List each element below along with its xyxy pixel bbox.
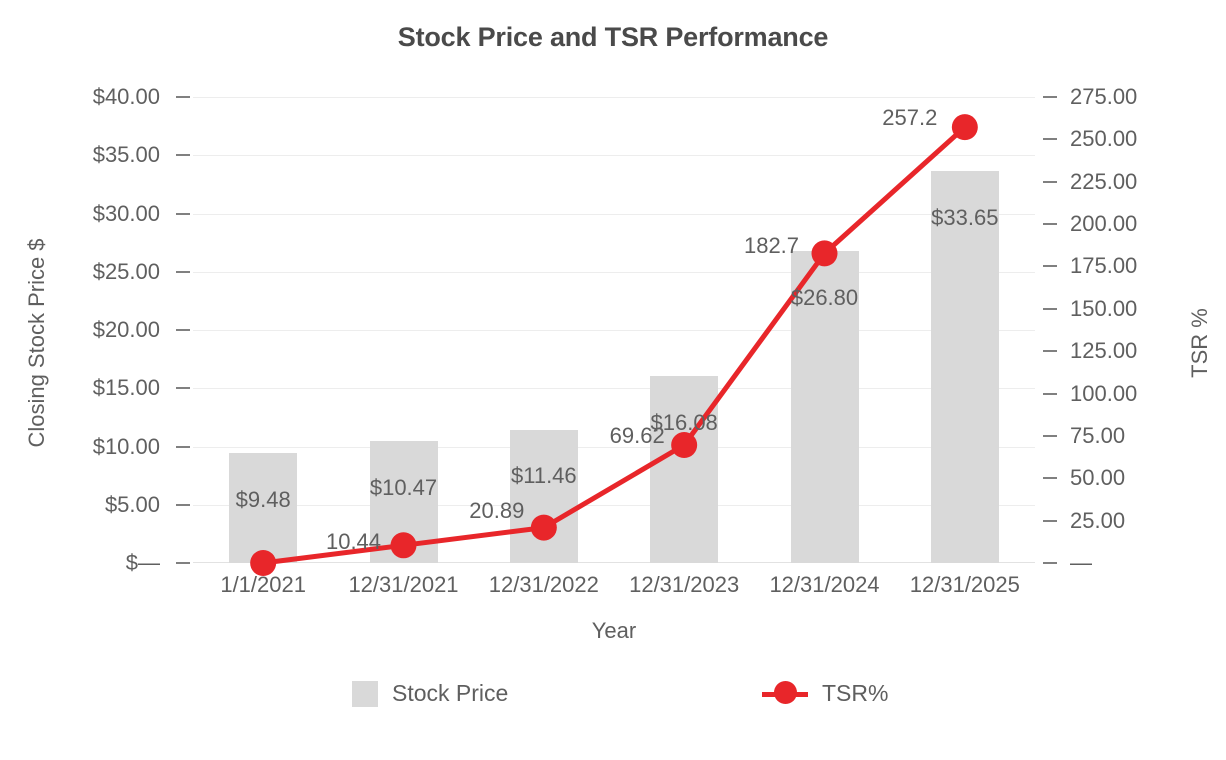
y-axis-left-tick-mark	[176, 562, 190, 564]
y-axis-left-tick-mark	[176, 504, 190, 506]
y-axis-right-tick-label: 200.00	[1070, 211, 1137, 237]
y-axis-right-title: TSR %	[1187, 143, 1213, 543]
x-axis-tick-label: 12/31/2024	[755, 572, 895, 598]
y-axis-right-tick-mark	[1043, 138, 1057, 140]
y-axis-right-tick-label: 125.00	[1070, 338, 1137, 364]
y-axis-right-tick-mark	[1043, 223, 1057, 225]
bar-data-label: $11.46	[479, 463, 609, 489]
y-axis-right-tick-mark	[1043, 435, 1057, 437]
chart-title: Stock Price and TSR Performance	[0, 22, 1226, 53]
x-axis-tick-label: 12/31/2025	[895, 572, 1035, 598]
x-axis-tick-label: 12/31/2021	[334, 572, 474, 598]
tsr-data-label: 10.44	[289, 529, 419, 555]
y-axis-left-tick-label: $35.00	[93, 142, 160, 168]
y-axis-right-tick-label: —	[1070, 550, 1092, 576]
tsr-data-label: 69.62	[572, 423, 702, 449]
y-axis-left-title: Closing Stock Price $	[24, 143, 50, 543]
x-axis-tick-label: 12/31/2022	[474, 572, 614, 598]
x-axis-title: Year	[193, 618, 1035, 644]
y-axis-right-tick-label: 150.00	[1070, 296, 1137, 322]
y-axis-left-tick-label: $10.00	[93, 434, 160, 460]
line-marker-swatch-icon	[762, 681, 808, 707]
legend-item-tsr[interactable]: TSR%	[762, 680, 888, 707]
tsr-data-label: 182.7	[707, 233, 837, 259]
y-axis-right-tick-label: 100.00	[1070, 381, 1137, 407]
y-axis-right-tick-label: 275.00	[1070, 84, 1137, 110]
legend-label-tsr: TSR%	[822, 680, 888, 707]
y-axis-left-tick-mark	[176, 329, 190, 331]
y-axis-right-tick-label: 225.00	[1070, 169, 1137, 195]
y-axis-left-tick-mark	[176, 446, 190, 448]
x-axis-tick-label: 12/31/2023	[614, 572, 754, 598]
y-axis-right-tick-mark	[1043, 562, 1057, 564]
y-axis-right-tick-label: 175.00	[1070, 253, 1137, 279]
legend-item-stock-price[interactable]: Stock Price	[352, 680, 508, 707]
y-axis-left-tick-label: $25.00	[93, 259, 160, 285]
data-labels: $9.48$10.47$11.46$16.08$26.80$33.6510.44…	[193, 97, 1035, 563]
y-axis-right-tick-label: 250.00	[1070, 126, 1137, 152]
tsr-data-label: 20.89	[432, 498, 562, 524]
y-axis-right-tick-mark	[1043, 477, 1057, 479]
y-axis-right-tick-mark	[1043, 520, 1057, 522]
bar-swatch-icon	[352, 681, 378, 707]
y-axis-left-tick-label: $40.00	[93, 84, 160, 110]
bar-data-label: $26.80	[760, 285, 890, 311]
bar-data-label: $33.65	[900, 205, 1030, 231]
y-axis-right-tick-mark	[1043, 393, 1057, 395]
plot-area: $9.48$10.47$11.46$16.08$26.80$33.6510.44…	[193, 97, 1035, 563]
y-axis-left-tick-label: $20.00	[93, 317, 160, 343]
y-axis-left-tick-label: $30.00	[93, 201, 160, 227]
y-axis-right-tick-label: 50.00	[1070, 465, 1125, 491]
legend-label-stock-price: Stock Price	[392, 680, 508, 707]
y-axis-right-tick-mark	[1043, 350, 1057, 352]
bar-data-label: $9.48	[198, 487, 328, 513]
y-axis-left-tick-mark	[176, 213, 190, 215]
y-axis-right-tick-label: 75.00	[1070, 423, 1125, 449]
y-axis-right-tick-mark	[1043, 265, 1057, 267]
x-axis-categories: 1/1/202112/31/202112/31/202212/31/202312…	[193, 572, 1035, 606]
x-axis-tick-label: 1/1/2021	[193, 572, 333, 598]
y-axis-left-tick-mark	[176, 271, 190, 273]
y-axis-right-tick-mark	[1043, 308, 1057, 310]
y-axis-right-tick-mark	[1043, 181, 1057, 183]
y-axis-right-tick-label: 25.00	[1070, 508, 1125, 534]
y-axis-left-tick-label: $5.00	[105, 492, 160, 518]
chart-legend: Stock Price TSR%	[0, 680, 1226, 720]
y-axis-left-tick-mark	[176, 154, 190, 156]
y-axis-left-tick-label: $15.00	[93, 375, 160, 401]
chart-container: Stock Price and TSR Performance $—$5.00$…	[0, 0, 1226, 760]
y-axis-left-tick-mark	[176, 387, 190, 389]
tsr-data-label: 257.2	[845, 105, 975, 131]
y-axis-right-tick-mark	[1043, 96, 1057, 98]
y-axis-left-tick-mark	[176, 96, 190, 98]
y-axis-left-tick-label: $—	[126, 550, 160, 576]
